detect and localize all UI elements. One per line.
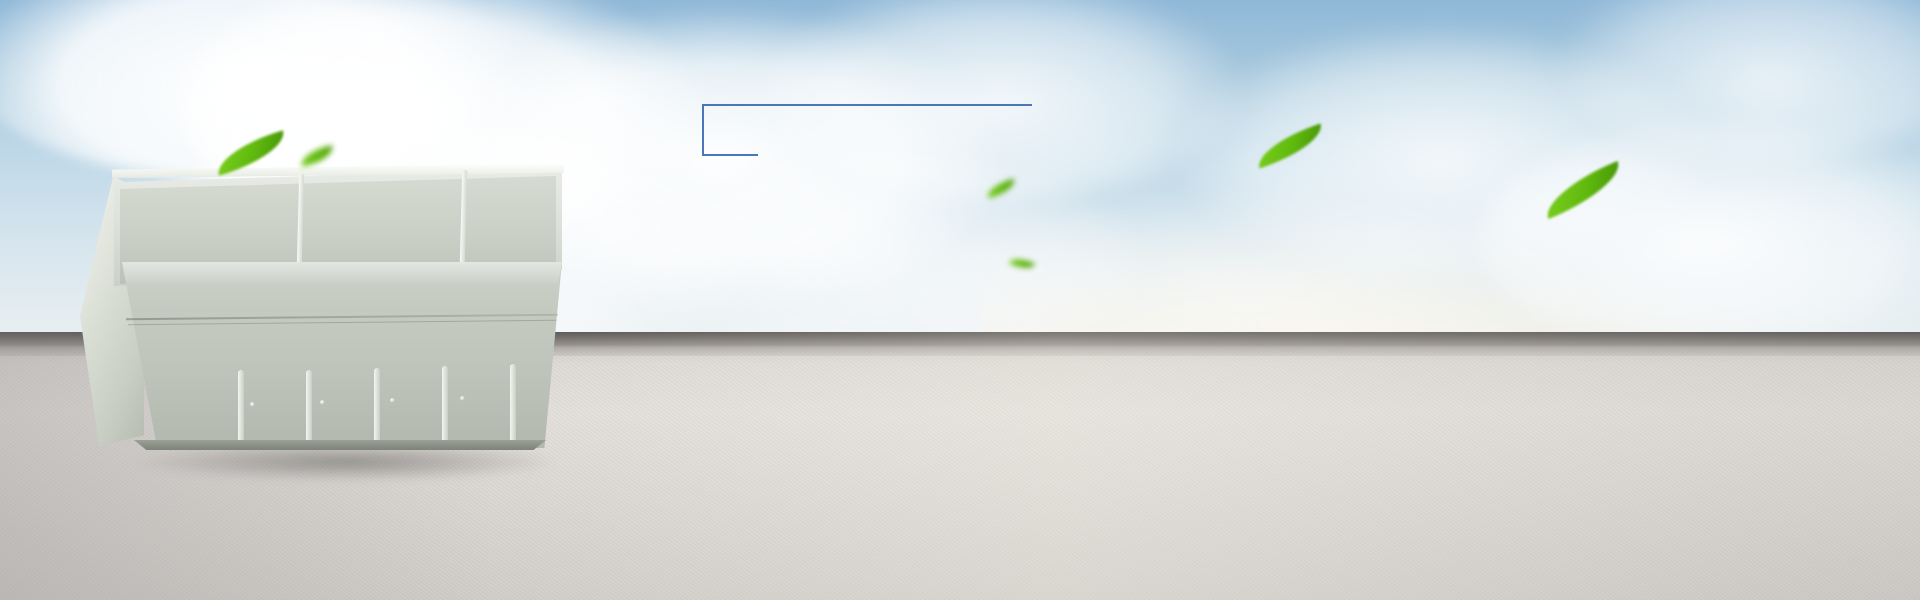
feed-bar-3 bbox=[374, 368, 380, 450]
company-frame-underline bbox=[702, 154, 758, 156]
company-frame-border bbox=[702, 104, 1032, 156]
trough-bolt-4 bbox=[320, 400, 325, 405]
trough-front-highlight bbox=[122, 262, 562, 286]
feed-bar-5 bbox=[510, 364, 516, 448]
trough-bolt-6 bbox=[460, 396, 465, 401]
feed-bar-4 bbox=[442, 366, 448, 450]
headline-title bbox=[724, 158, 1244, 286]
product-photo-trough bbox=[72, 150, 592, 480]
trough-front-panel bbox=[122, 262, 562, 448]
text-content-block bbox=[700, 96, 1460, 546]
promotional-banner bbox=[0, 0, 1920, 600]
trough-bolt-3 bbox=[250, 402, 255, 407]
feed-bar-1 bbox=[238, 370, 244, 450]
trough-bolt-5 bbox=[390, 398, 395, 403]
trough-base bbox=[134, 440, 546, 450]
feed-bar-2 bbox=[306, 370, 312, 450]
